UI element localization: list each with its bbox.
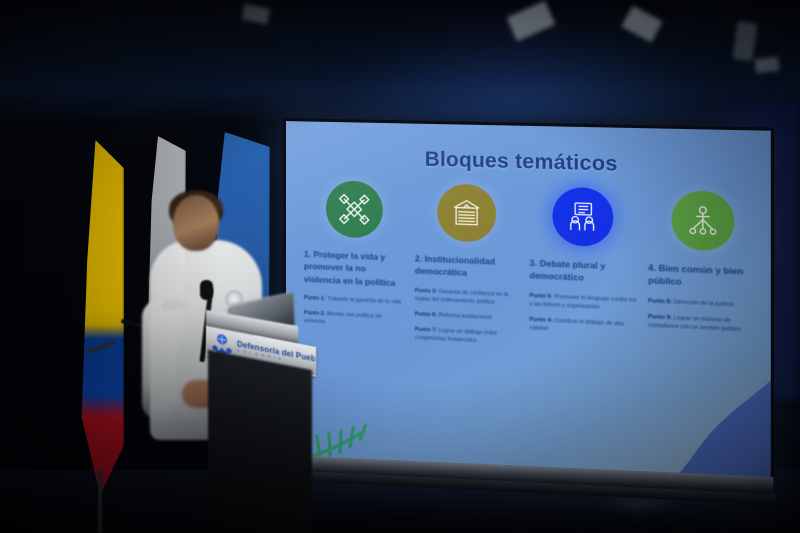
icon-wrap-2	[415, 183, 519, 244]
community-network-icon	[672, 190, 735, 252]
slide-column-2-bullet-1: Punto 3: Garantía de confianza en la reg…	[415, 286, 519, 307]
bullet-text: Dirección de la justicia	[674, 299, 734, 308]
uniform-patch-left	[162, 300, 186, 310]
bullet-prefix: Punto 2:	[304, 310, 326, 317]
slide-column-4-bullet-1: Punto 8: Dirección de la justicia	[648, 297, 759, 311]
slide-column-2-bullet-3: Punto 7: Lograr un diálogo entre congres…	[415, 325, 519, 347]
slide-column-1-bullet-2: Punto 2: Alentar una política sin violen…	[304, 309, 405, 330]
microphone-head-icon	[200, 280, 213, 300]
bullet-prefix: Punto 6:	[415, 311, 437, 318]
speaker-head	[173, 195, 219, 251]
slide-column-3-bullet-2: Punto 4: Construir el diálogo de alta ca…	[529, 316, 637, 338]
icon-wrap-3	[529, 186, 637, 248]
bullet-prefix: Punto 7:	[415, 327, 437, 334]
courthouse-icon	[437, 183, 496, 242]
slide-column-2-bullet-2: Punto 6: Reforma institucional	[415, 310, 519, 323]
slide-column-3-bullet-1: Punto 5: Promover el lenguaje contra los…	[529, 291, 637, 313]
slide-columns: 1. Proteger la vida y promover la no vio…	[304, 180, 759, 368]
slide-column-1-bullet-1: Punto 1: Tratando la garantía de la vida	[304, 294, 405, 307]
icon-wrap-1	[304, 180, 405, 240]
slide-column-1: 1. Proteger la vida y promover la no vio…	[304, 180, 405, 349]
bullet-text: Reforma institucional	[439, 312, 492, 321]
icon-wrap-4	[648, 189, 759, 252]
ceiling-light-4	[754, 57, 779, 73]
lectern-body	[208, 350, 312, 533]
presentation-room-photo: Misión Bloques temáticos	[0, 0, 800, 533]
bullet-prefix: Punto 8:	[648, 298, 672, 305]
slide-title: Bloques temáticos	[286, 145, 771, 181]
slide-column-2-heading: 2. Institucionalidad democrática	[415, 252, 519, 282]
slide-column-1-heading: 1. Proteger la vida y promover la no vio…	[304, 248, 405, 290]
bullet-prefix: Punto 9:	[648, 314, 672, 321]
conflict-resolution-icon	[326, 180, 383, 238]
slide-column-3-heading: 3. Debate plural y democrático	[529, 257, 637, 287]
bullet-prefix: Punto 3:	[415, 287, 437, 294]
bullet-prefix: Punto 1:	[304, 295, 326, 302]
slide-column-4: 4. Bien común y bien público Punto 8: Di…	[648, 189, 759, 367]
flag-pole-base	[98, 470, 102, 533]
dialogue-people-icon	[553, 187, 614, 248]
bullet-text: Tratando la garantía de la vida	[327, 296, 401, 306]
slide-surface: Bloques temáticos	[286, 121, 771, 501]
bullet-prefix: Punto 5:	[529, 292, 552, 299]
slide-column-4-heading: 4. Bien común y bien público	[648, 261, 759, 292]
slide-column-2: 2. Institucionalidad democrática Punto 3…	[415, 183, 519, 355]
slide-column-3: 3. Debate plural y democrático Punto 5: …	[529, 186, 637, 361]
bullet-prefix: Punto 4:	[529, 317, 552, 324]
slide-column-4-bullet-2: Punto 9: Lograr un máximo de ciudadanos …	[648, 313, 759, 336]
projection-screen: Bloques temáticos	[283, 118, 774, 504]
